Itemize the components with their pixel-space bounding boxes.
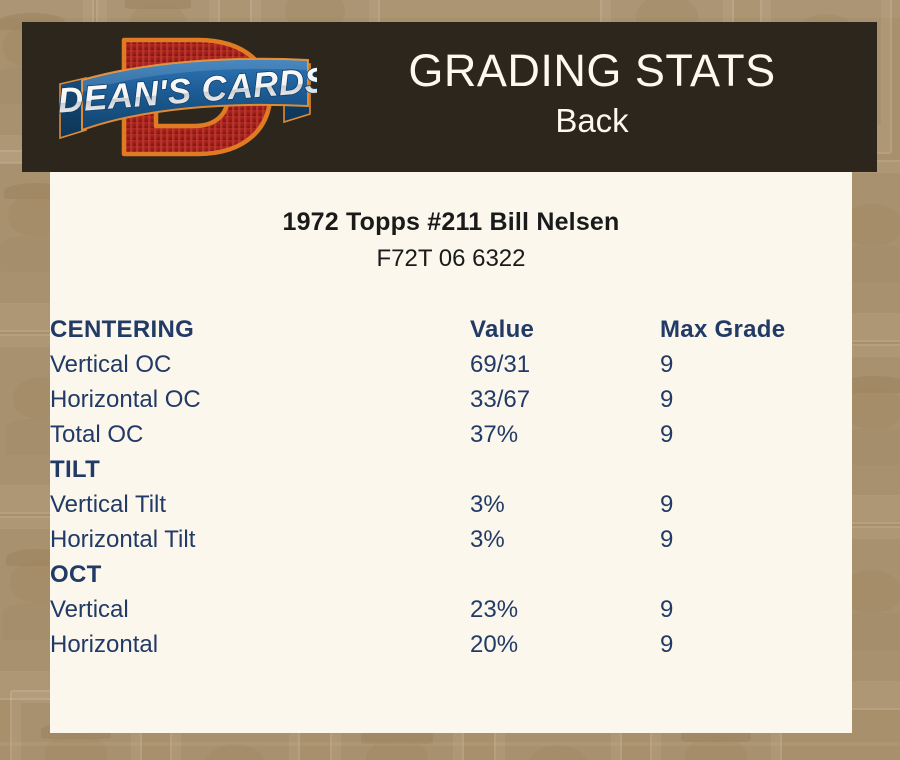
stat-value: 23% [470,592,660,627]
content-panel: 1972 Topps #211 Bill Nelsen F72T 06 6322… [50,172,852,733]
deans-cards-logo[interactable]: DEAN'S CARDS [52,26,317,168]
column-header-value: Value [470,312,660,347]
stat-value: 69/31 [470,347,660,382]
table-header-row: CENTERING Value Max Grade [50,312,852,347]
stat-max-grade: 9 [660,347,852,382]
stat-max-grade: 9 [660,487,852,522]
stat-value: 20% [470,627,660,662]
column-header-max-grade: Max Grade [660,312,852,347]
table-row: Vertical OC 69/31 9 [50,347,852,382]
section-spacer [470,452,660,487]
section-spacer [660,452,852,487]
section-heading-oct: OCT [50,557,470,592]
stat-value: 3% [470,522,660,557]
card-title: 1972 Topps #211 Bill Nelsen [50,208,852,237]
stat-max-grade: 9 [660,592,852,627]
stats-table-body: CENTERING Value Max Grade Vertical OC 69… [50,312,852,662]
section-heading-tilt: TILT [50,452,470,487]
section-row-tilt: TILT [50,452,852,487]
table-row: Horizontal 20% 9 [50,627,852,662]
stat-label: Horizontal [50,627,470,662]
section-row-oct: OCT [50,557,852,592]
table-row: Vertical Tilt 3% 9 [50,487,852,522]
stat-value: 3% [470,487,660,522]
header-bar: DEAN'S CARDS GRADING STATS Back [22,22,877,172]
stat-max-grade: 9 [660,417,852,452]
header-title-group: GRADING STATS Back [322,44,862,142]
section-spacer [470,557,660,592]
stat-label: Vertical Tilt [50,487,470,522]
page-title: GRADING STATS [322,44,862,98]
table-row: Horizontal Tilt 3% 9 [50,522,852,557]
table-row: Total OC 37% 9 [50,417,852,452]
stat-label: Total OC [50,417,470,452]
stat-label: Horizontal OC [50,382,470,417]
grading-stats-table: CENTERING Value Max Grade Vertical OC 69… [50,312,852,662]
stat-value: 33/67 [470,382,660,417]
stat-label: Horizontal Tilt [50,522,470,557]
card-serial-number: F72T 06 6322 [50,245,852,273]
stat-max-grade: 9 [660,627,852,662]
stat-value: 37% [470,417,660,452]
section-spacer [660,557,852,592]
stat-label: Vertical [50,592,470,627]
stat-max-grade: 9 [660,382,852,417]
section-heading-centering: CENTERING [50,312,470,347]
stat-label: Vertical OC [50,347,470,382]
stat-max-grade: 9 [660,522,852,557]
table-row: Vertical 23% 9 [50,592,852,627]
page-subtitle: Back [322,100,862,142]
deans-cards-logo-svg: DEAN'S CARDS [52,26,317,168]
table-row: Horizontal OC 33/67 9 [50,382,852,417]
